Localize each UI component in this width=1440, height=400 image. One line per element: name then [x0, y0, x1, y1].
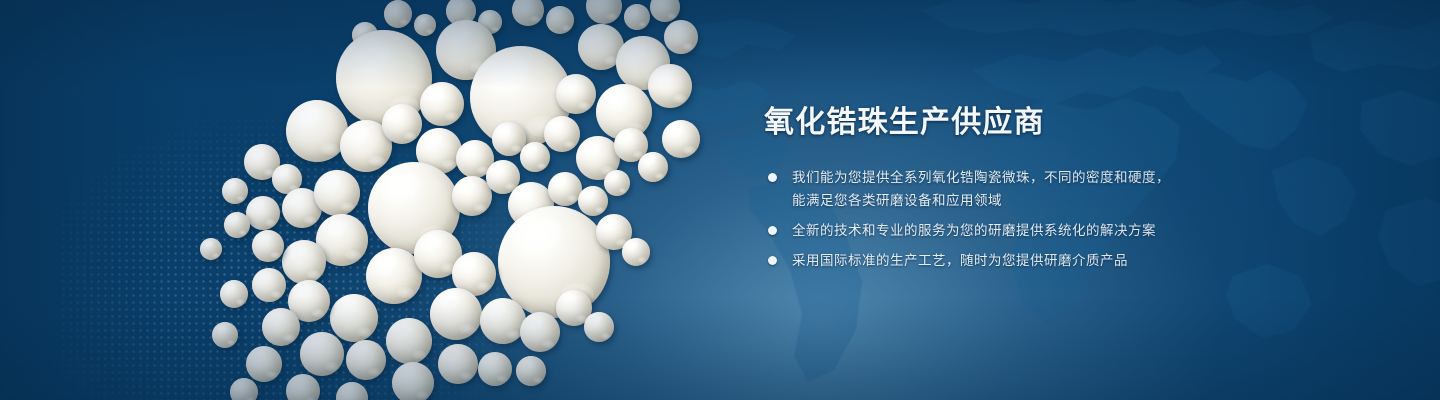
banner-vignette-overlay	[0, 0, 1440, 400]
hero-banner: 氧化锆珠生产供应商 我们能为您提供全系列氧化锆陶瓷微珠，不同的密度和硬度， 能满…	[0, 0, 1440, 400]
